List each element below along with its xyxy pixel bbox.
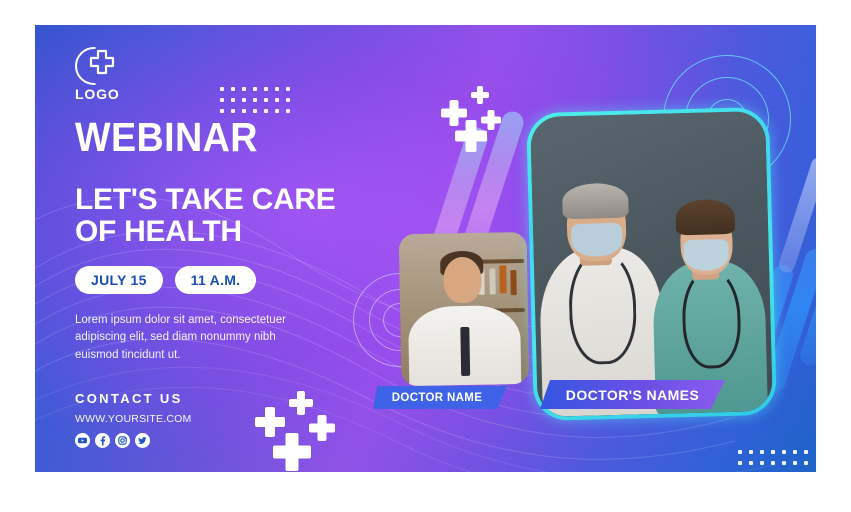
event-badges: JULY 15 11 A.M.	[75, 266, 405, 294]
instagram-icon[interactable]	[115, 433, 130, 448]
doctor-name-label-small: DOCTOR NAME	[373, 386, 507, 409]
eyebrow-title: WEBINAR	[75, 117, 379, 158]
logo[interactable]: LOGO	[75, 45, 145, 103]
decor-plus-cluster-top	[431, 80, 511, 142]
time-badge: 11 A.M.	[175, 266, 257, 294]
headline-line-1: LET'S TAKE CARE	[75, 184, 405, 216]
medical-cross-circle-icon	[75, 45, 121, 85]
doctor-name-label-main: DOCTOR'S NAMES	[540, 380, 725, 409]
date-badge: JULY 15	[75, 266, 163, 294]
banner-content: LOGO WEBINAR LET'S TAKE CARE OF HEALTH J…	[75, 45, 405, 448]
page-title: LET'S TAKE CARE OF HEALTH	[75, 184, 405, 248]
twitter-icon[interactable]	[135, 433, 150, 448]
logo-text: LOGO	[75, 86, 145, 102]
doctor-photo-main[interactable]	[526, 107, 777, 421]
two-female-doctors-masks-photo	[530, 111, 773, 417]
social-links	[75, 433, 405, 448]
headline-line-2: OF HEALTH	[75, 216, 405, 248]
facebook-icon[interactable]	[95, 433, 110, 448]
male-doctor-white-coat-photo	[399, 232, 530, 386]
plus-icon	[455, 120, 487, 152]
doctor-photo-small[interactable]	[399, 232, 530, 386]
webinar-banner: LOGO WEBINAR LET'S TAKE CARE OF HEALTH J…	[35, 25, 816, 472]
youtube-icon[interactable]	[75, 433, 90, 448]
contact-heading: CONTACT US	[75, 391, 405, 406]
plus-icon	[471, 86, 489, 104]
website-url[interactable]: WWW.YOURSITE.COM	[75, 413, 405, 425]
decor-dot-grid-bottom	[738, 450, 815, 472]
description-text: Lorem ipsum dolor sit amet, consectetuer…	[75, 312, 305, 365]
